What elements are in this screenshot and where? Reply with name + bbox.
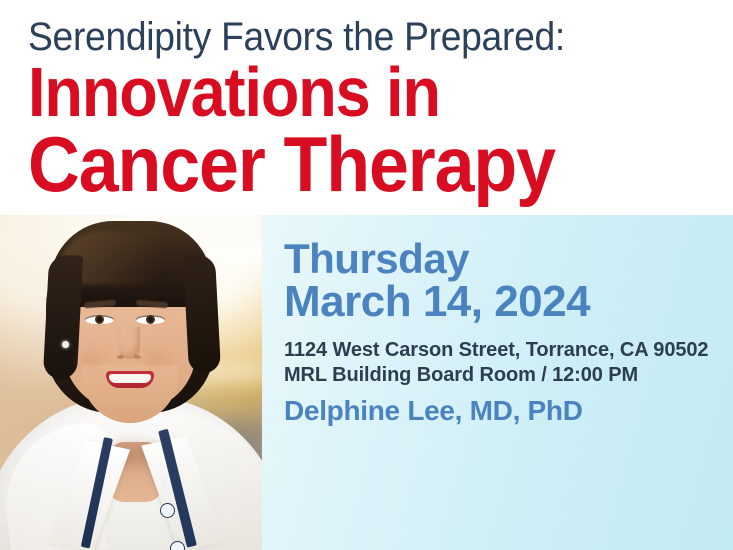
cheek-right (144, 351, 170, 367)
eye-right (136, 315, 165, 324)
nostril-left (117, 355, 124, 359)
event-info-panel: Thursday March 14, 2024 1124 West Carson… (262, 215, 733, 550)
event-address-line-2: MRL Building Board Room / 12:00 PM (284, 363, 638, 387)
speaker-photo: DHS DHS (0, 215, 262, 550)
lanyard-text-lower: DHS (168, 518, 175, 534)
nostril-right (134, 355, 141, 359)
event-flyer: Serendipity Favors the Prepared: Innovat… (0, 0, 733, 550)
mouth (106, 371, 154, 388)
event-date: March 14, 2024 (284, 279, 590, 325)
cheek-left (78, 351, 104, 367)
lanyard-text-upper: DHS (160, 478, 167, 494)
event-day: Thursday (284, 237, 469, 281)
eye-left (85, 315, 114, 324)
hair-right-side (183, 254, 221, 374)
event-address-line-1: 1124 West Carson Street, Torrance, CA 90… (284, 338, 708, 362)
flyer-header: Serendipity Favors the Prepared: Innovat… (0, 0, 733, 215)
flyer-title-line-1: Innovations in (28, 56, 440, 128)
lanyard-logo-icon (160, 503, 175, 518)
lanyard-logo-secondary-icon (170, 541, 185, 550)
hair-left-side (43, 254, 83, 380)
event-speaker-name: Delphine Lee, MD, PhD (284, 395, 583, 427)
earring (62, 341, 69, 348)
flyer-title-line-2: Cancer Therapy (28, 124, 555, 204)
